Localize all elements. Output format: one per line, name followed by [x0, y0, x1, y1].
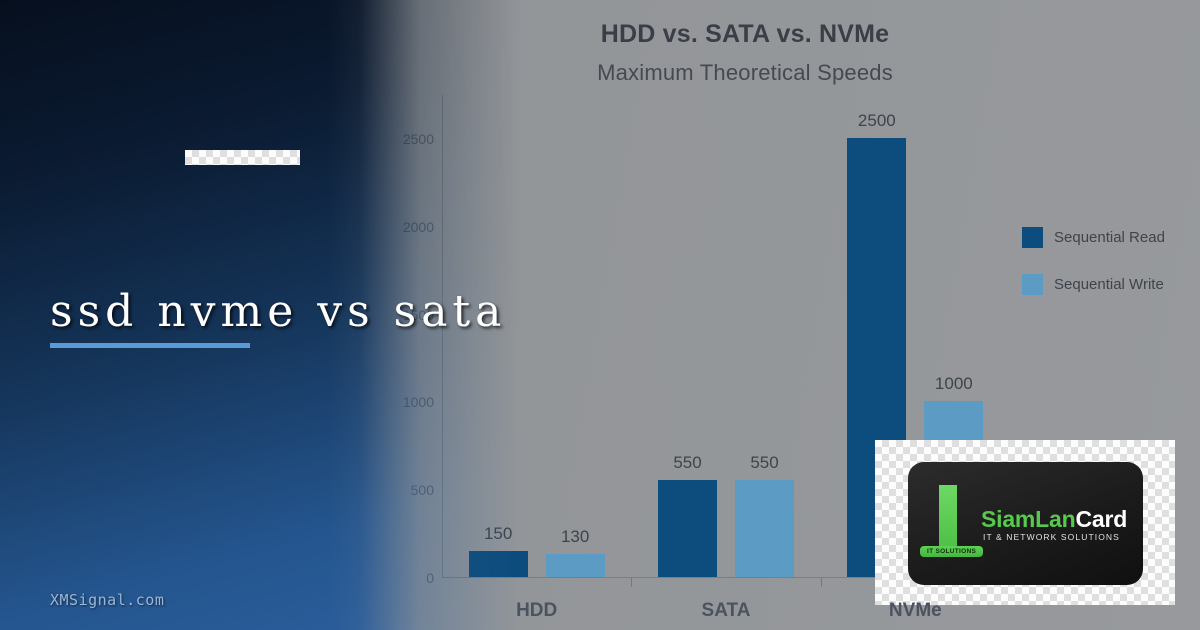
legend-swatch-icon — [1022, 274, 1043, 295]
legend-item-write[interactable]: Sequential Write — [1022, 273, 1165, 295]
legend-item-read[interactable]: Sequential Read — [1022, 226, 1165, 248]
site-watermark: XMSignal.com — [50, 591, 164, 609]
overlay-accent-rule — [50, 343, 250, 348]
legend-label: Sequential Read — [1054, 229, 1165, 246]
x-axis-category-label-sata: SATA — [702, 600, 751, 622]
logo-name-secondary: Card — [1075, 506, 1127, 532]
legend-swatch-icon — [1022, 227, 1043, 248]
legend-label: Sequential Write — [1054, 276, 1164, 293]
logo-badge: IT SOLUTIONS — [920, 546, 983, 557]
overlay-headline: ssd nvme vs sata — [50, 286, 506, 337]
logo-wordmark: SiamLanCard — [981, 506, 1127, 533]
x-axis-category-label-hdd: HDD — [516, 600, 557, 622]
logo-green-bar-icon — [939, 485, 957, 552]
screenshot-stage: HDD vs. SATA vs. NVMe Maximum Theoretica… — [0, 0, 1200, 630]
x-axis-tick-mark — [821, 578, 822, 587]
bar-value-label: 1000 — [935, 374, 973, 394]
logo-name-primary: SiamLan — [981, 506, 1075, 532]
logo-watermark-strip — [185, 150, 300, 165]
logo-card: IT SOLUTIONS SiamLanCard IT & NETWORK SO… — [908, 462, 1143, 585]
bar-value-label: 2500 — [858, 111, 896, 131]
chart-legend: Sequential ReadSequential Write — [1022, 226, 1165, 320]
logo-tagline: IT & NETWORK SOLUTIONS — [983, 532, 1120, 542]
logo-watermark: IT SOLUTIONS SiamLanCard IT & NETWORK SO… — [875, 440, 1175, 605]
x-axis-category-label-nvme: NVMe — [889, 600, 942, 622]
